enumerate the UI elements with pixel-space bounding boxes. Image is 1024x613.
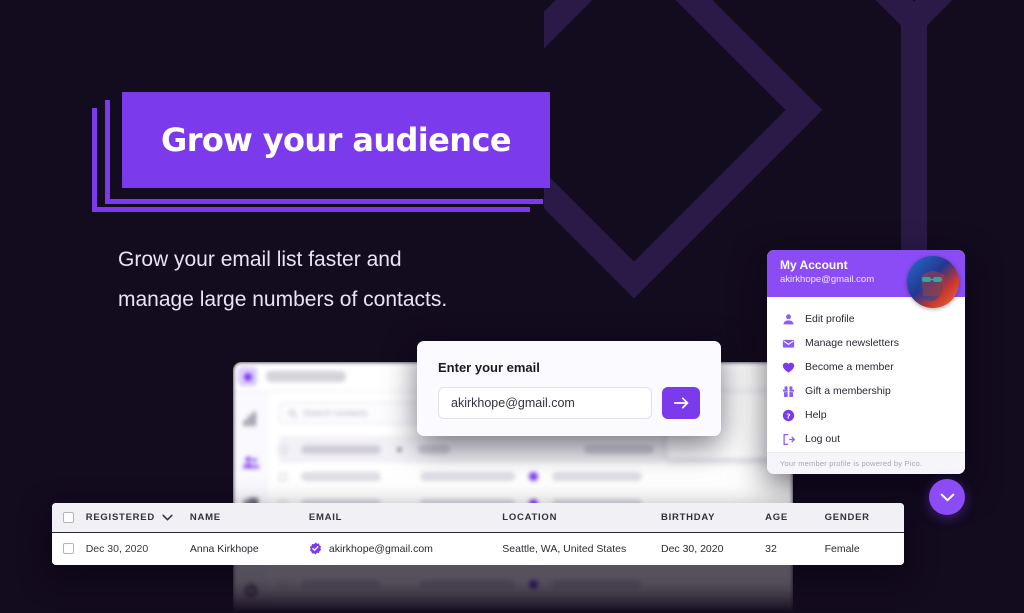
app-logo-icon <box>239 368 256 385</box>
account-menu-item-label: Gift a membership <box>805 385 891 397</box>
scroll-down-button[interactable] <box>929 479 965 515</box>
cell-gender: Female <box>825 543 904 555</box>
cell-registered: Dec 30, 2020 <box>86 543 190 555</box>
column-header-gender[interactable]: GENDER <box>825 512 904 523</box>
search-placeholder-text: Search contacts <box>303 408 368 418</box>
cell-name: Anna Kirkhope <box>190 543 309 555</box>
account-menu-item-label: Manage newsletters <box>805 337 899 349</box>
chevron-down-icon[interactable] <box>162 514 173 521</box>
column-header-location[interactable]: LOCATION <box>502 512 661 523</box>
cell-age: 32 <box>765 543 825 555</box>
email-capture-modal: Enter your email <box>417 341 721 436</box>
column-placeholder <box>418 445 450 454</box>
table-row[interactable] <box>279 463 781 490</box>
column-header-birthday[interactable]: BIRTHDAY <box>661 512 765 523</box>
hero-subtitle-line-1: Grow your email list faster and <box>118 240 548 280</box>
contacts-table: REGISTERED NAME EMAIL LOCATION BIRTHDAY … <box>52 503 904 565</box>
headline-fill: Grow your audience <box>122 92 550 188</box>
account-menu-item-help[interactable]: ? Help <box>767 403 965 427</box>
avatar <box>907 256 959 308</box>
column-placeholder <box>301 445 381 454</box>
hero-subtitle-line-2: manage large numbers of contacts. <box>118 280 548 320</box>
cell-placeholder <box>552 472 642 481</box>
row-checkbox[interactable] <box>52 543 86 554</box>
column-header-age[interactable]: AGE <box>765 512 825 523</box>
column-header-label: NAME <box>190 512 221 523</box>
avatar-portrait-icon <box>907 256 959 308</box>
arrow-right-icon <box>673 396 690 410</box>
column-header-label: EMAIL <box>309 512 342 523</box>
envelope-icon <box>781 336 795 350</box>
settings-icon <box>242 582 260 600</box>
heart-icon <box>781 360 795 374</box>
cell-email-text: akirkhope@gmail.com <box>329 543 433 555</box>
account-menu-item-log-out[interactable]: Log out <box>767 427 965 451</box>
cell-birthday: Dec 30, 2020 <box>661 543 765 555</box>
column-header-label: REGISTERED <box>86 512 155 523</box>
column-header-label: AGE <box>765 512 788 523</box>
account-menu-item-become-a-member[interactable]: Become a member <box>767 355 965 379</box>
column-header-registered[interactable]: REGISTERED <box>86 512 190 523</box>
account-menu-item-manage-newsletters[interactable]: Manage newsletters <box>767 331 965 355</box>
svg-text:?: ? <box>786 411 790 420</box>
cell-location: Seattle, WA, United States <box>502 543 661 555</box>
verified-badge-icon <box>529 472 538 481</box>
verified-badge-icon <box>309 542 322 555</box>
verified-badge-icon <box>529 580 538 589</box>
person-icon <box>781 312 795 326</box>
email-submit-button[interactable] <box>662 387 700 419</box>
chevron-down-icon <box>940 493 955 502</box>
account-menu-item-label: Become a member <box>805 361 894 373</box>
row-checkbox[interactable] <box>279 473 287 481</box>
column-header-label: GENDER <box>825 512 870 523</box>
column-header-label: LOCATION <box>502 512 557 523</box>
cell-placeholder <box>552 580 642 589</box>
row-checkbox[interactable] <box>279 446 287 454</box>
my-account-panel: My Account akirkhope@gmail.com <box>767 250 965 474</box>
question-circle-icon: ? <box>781 408 795 422</box>
page-root: Grow your audience Grow your email list … <box>0 0 1024 613</box>
gift-icon <box>781 384 795 398</box>
search-icon <box>288 409 297 418</box>
account-header: My Account akirkhope@gmail.com <box>767 250 965 297</box>
account-menu-item-label: Edit profile <box>805 313 855 325</box>
account-menu-item-edit-profile[interactable]: Edit profile <box>767 307 965 331</box>
account-footer: Your member profile is powered by Pico. <box>767 452 965 474</box>
select-all-checkbox[interactable] <box>52 512 86 523</box>
hero-headline-block: Grow your audience <box>92 92 562 220</box>
cell-placeholder <box>301 580 381 589</box>
analytics-icon <box>242 410 260 428</box>
dashboard-title-placeholder <box>266 371 346 382</box>
column-placeholder <box>584 445 654 454</box>
cell-email: akirkhope@gmail.com <box>309 542 502 555</box>
column-header-label: BIRTHDAY <box>661 512 715 523</box>
row-checkbox[interactable] <box>279 581 287 589</box>
table-row[interactable] <box>279 571 781 598</box>
account-menu-item-gift-a-membership[interactable]: Gift a membership <box>767 379 965 403</box>
account-menu-item-label: Help <box>805 409 827 421</box>
chevron-down-icon[interactable]: ▼ <box>395 445 404 455</box>
page-title: Grow your audience <box>161 121 511 159</box>
cell-placeholder <box>301 472 381 481</box>
hero-subtitle: Grow your email list faster and manage l… <box>118 240 548 320</box>
email-modal-label: Enter your email <box>438 360 700 375</box>
email-field[interactable] <box>438 387 652 419</box>
contacts-icon <box>242 453 260 471</box>
column-header-name[interactable]: NAME <box>190 512 309 523</box>
logout-icon <box>781 432 795 446</box>
cell-placeholder <box>420 472 515 481</box>
table-row[interactable]: Dec 30, 2020 Anna Kirkhope akirkhope@gma… <box>52 533 904 564</box>
cell-placeholder <box>420 580 515 589</box>
column-header-email[interactable]: EMAIL <box>309 512 502 523</box>
account-menu: Edit profile Manage newsletters Become a… <box>767 297 965 451</box>
contacts-table-header: REGISTERED NAME EMAIL LOCATION BIRTHDAY … <box>52 503 904 533</box>
account-menu-item-label: Log out <box>805 433 840 445</box>
